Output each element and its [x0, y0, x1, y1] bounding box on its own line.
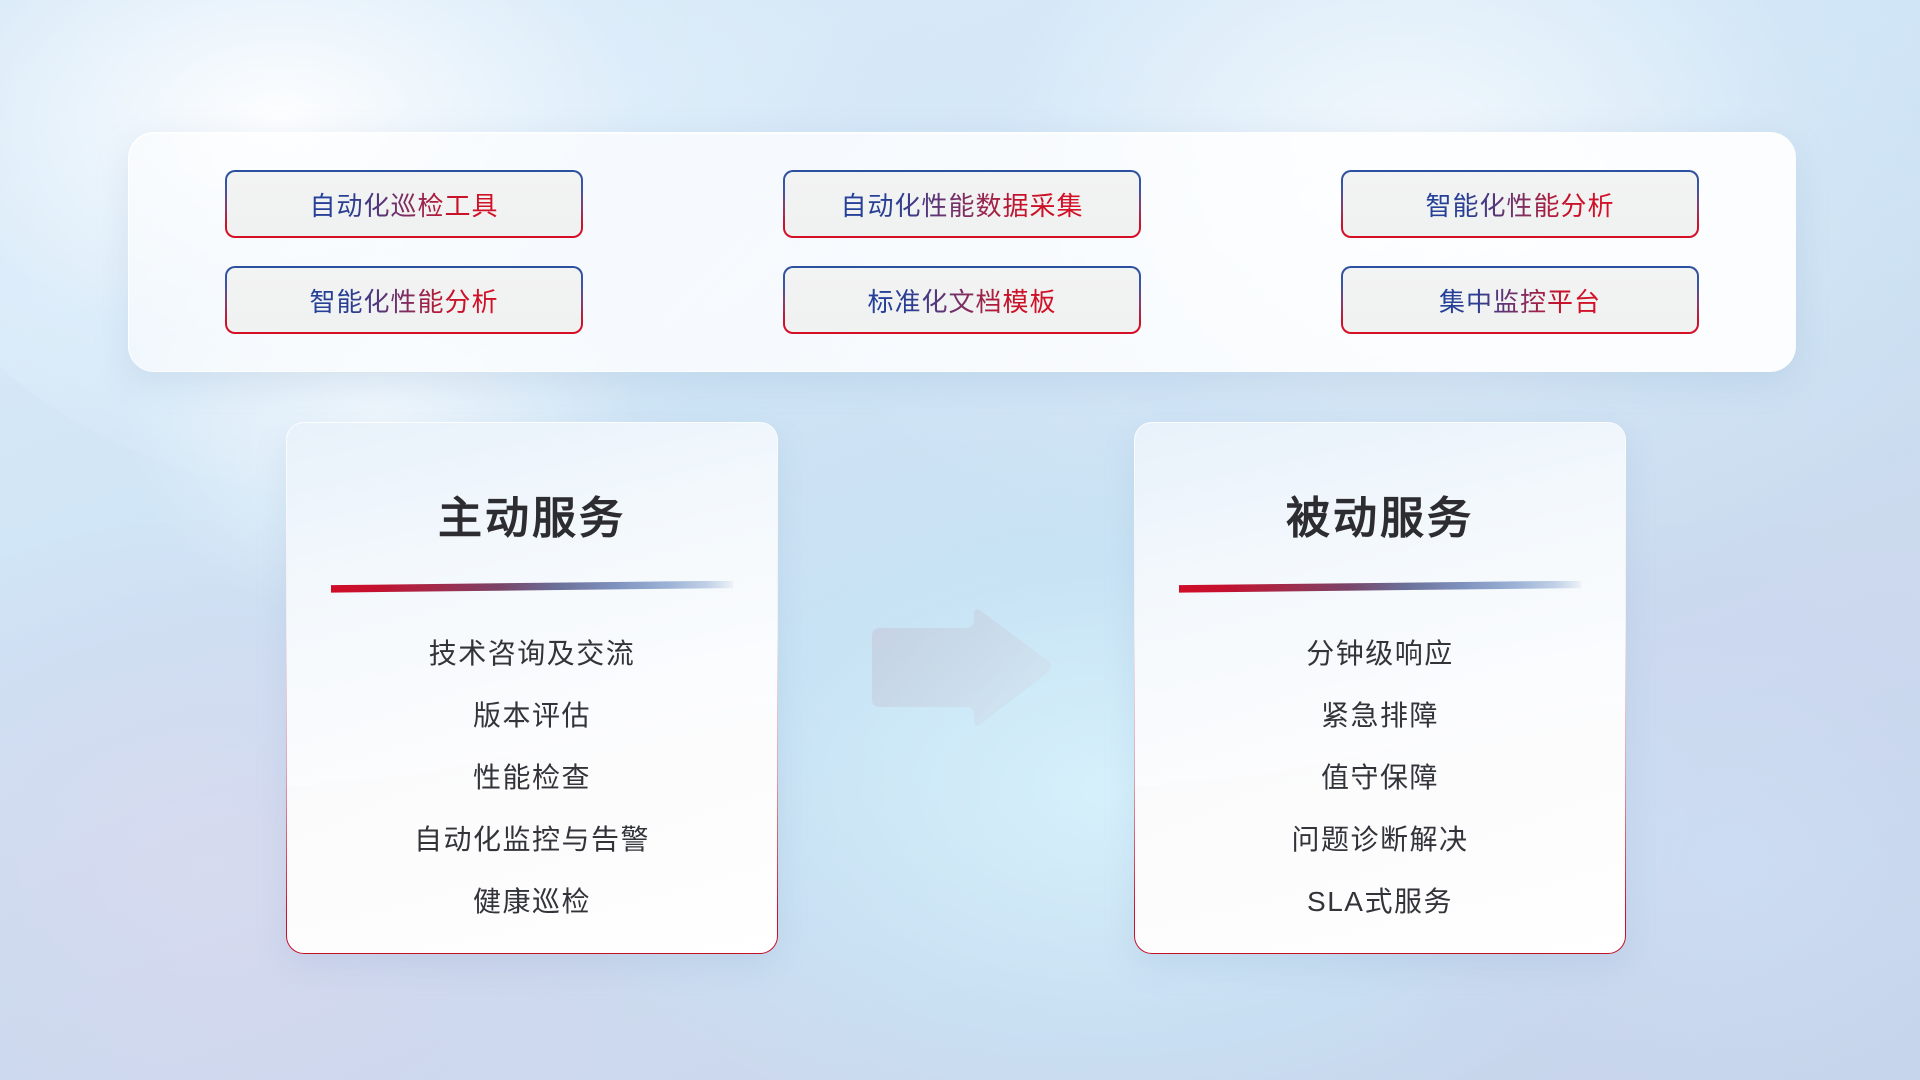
service-card-active: 主动服务 技术咨询及交流 版本评估 性能检查 自动化监控与告警 健康巡检 — [286, 422, 778, 954]
service-card-title: 被动服务 — [1175, 494, 1585, 545]
capability-pill-label: 标准化文档模板 — [867, 282, 1056, 319]
capabilities-banner: 自动化巡检工具 自动化性能数据采集 智能化性能分析 智能化性能分析 标准化文档模… — [128, 132, 1796, 372]
capability-pill-intelligent-performance-analysis-a[interactable]: 智能化性能分析 — [1341, 170, 1699, 238]
flow-arrow-container — [862, 608, 1052, 728]
slide-canvas: 自动化巡检工具 自动化性能数据采集 智能化性能分析 智能化性能分析 标准化文档模… — [0, 0, 1920, 1080]
capability-pill-label: 自动化性能数据采集 — [840, 186, 1083, 223]
capability-pill-label: 智能化性能分析 — [309, 282, 498, 319]
capability-row-1: 自动化巡检工具 自动化性能数据采集 智能化性能分析 — [225, 170, 1699, 238]
capability-pill-label: 智能化性能分析 — [1425, 186, 1614, 223]
capability-pill-intelligent-performance-analysis-b[interactable]: 智能化性能分析 — [225, 266, 583, 334]
service-item-list: 技术咨询及交流 版本评估 性能检查 自动化监控与告警 健康巡检 — [327, 623, 737, 933]
capability-pill-centralized-monitoring-platform[interactable]: 集中监控平台 — [1341, 266, 1699, 334]
title-divider-wedge — [1179, 581, 1581, 593]
list-item: 分钟级响应 — [1175, 623, 1585, 685]
list-item: 值守保障 — [1175, 747, 1585, 809]
capability-pill-automated-inspection-tool[interactable]: 自动化巡检工具 — [225, 170, 583, 238]
arrow-right-icon — [862, 608, 1052, 728]
title-divider — [1179, 581, 1581, 593]
service-card-passive: 被动服务 分钟级响应 紧急排障 值守保障 问题诊断解决 SLA式服务 — [1134, 422, 1626, 954]
list-item: 版本评估 — [327, 685, 737, 747]
list-item: 紧急排障 — [1175, 685, 1585, 747]
list-item: 问题诊断解决 — [1175, 809, 1585, 871]
list-item: SLA式服务 — [1175, 871, 1585, 933]
service-card-title: 主动服务 — [327, 494, 737, 545]
capability-pill-label: 集中监控平台 — [1439, 282, 1601, 319]
capability-row-2: 智能化性能分析 标准化文档模板 集中监控平台 — [225, 266, 1699, 334]
list-item: 性能检查 — [327, 747, 737, 809]
capability-pill-label: 自动化巡检工具 — [309, 186, 498, 223]
capability-pill-standardized-document-template[interactable]: 标准化文档模板 — [783, 266, 1141, 334]
list-item: 健康巡检 — [327, 871, 737, 933]
capability-pill-automated-performance-data-collection[interactable]: 自动化性能数据采集 — [783, 170, 1141, 238]
list-item: 技术咨询及交流 — [327, 623, 737, 685]
title-divider-wedge — [331, 581, 733, 593]
title-divider — [331, 581, 733, 593]
service-item-list: 分钟级响应 紧急排障 值守保障 问题诊断解决 SLA式服务 — [1175, 623, 1585, 933]
list-item: 自动化监控与告警 — [327, 809, 737, 871]
